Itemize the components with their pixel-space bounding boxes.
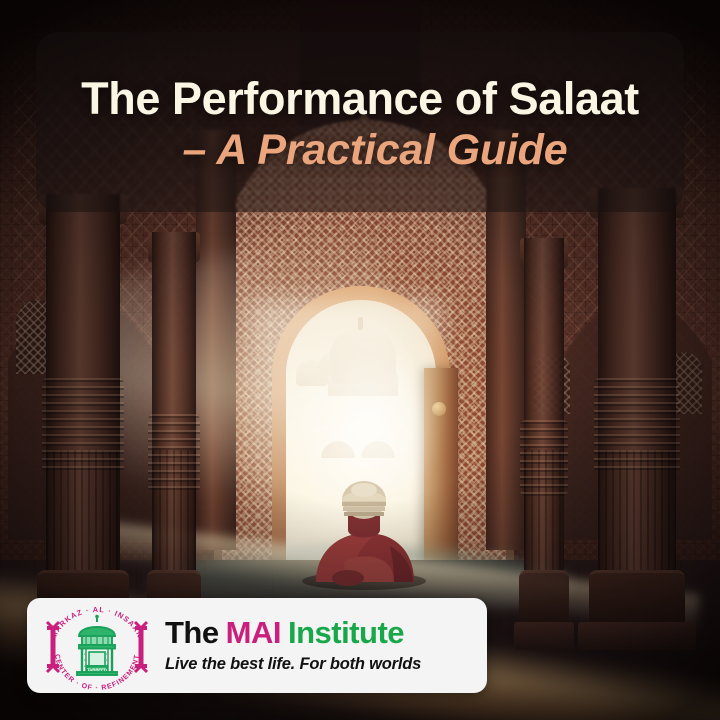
page-title: The Performance of Salaat <box>81 75 639 122</box>
pillar-right-front <box>598 188 676 624</box>
brand-wordmark: TheMAIInstitute <box>165 617 421 648</box>
pillar-base <box>589 570 686 624</box>
brand-wordmark-block: TheMAIInstitute Live the best life. For … <box>165 617 421 674</box>
poster-canvas: The Performance of Salaat – A Practical … <box>0 0 720 720</box>
brand-word-the: The <box>165 615 219 650</box>
pillar-right-back <box>524 238 564 624</box>
pillar-plinth <box>578 622 697 650</box>
brand-logo-card[interactable]: MARKAZ · AL · INSAAN CENTER · OF · REFIN… <box>27 598 487 693</box>
pillar-ring-band <box>42 378 124 474</box>
svg-text:A: A <box>106 651 109 656</box>
pillar-ring-band <box>520 420 568 496</box>
markaz-al-insaan-emblem: MARKAZ · AL · INSAAN CENTER · OF · REFIN… <box>41 602 153 690</box>
seated-praying-figure <box>286 450 446 590</box>
brand-tagline: Live the best life. For both worlds <box>165 655 421 674</box>
pillar-ring-band <box>594 378 680 474</box>
title-overlay-panel: The Performance of Salaat – A Practical … <box>36 32 684 212</box>
pillar-base <box>519 570 569 624</box>
svg-text:A: A <box>106 657 109 662</box>
pillar-ring-band <box>148 414 200 492</box>
pillar-plinth <box>514 622 575 650</box>
emblem-minaret: AAA AAA TARBEED <box>77 614 117 674</box>
svg-text:A: A <box>84 657 87 662</box>
svg-text:A: A <box>84 651 87 656</box>
page-subtitle: – A Practical Guide <box>153 128 568 173</box>
brand-word-mai: MAI <box>226 615 281 650</box>
brand-word-institute: Institute <box>288 615 404 650</box>
pillar-left-front <box>46 194 120 624</box>
pillar-left-back <box>152 232 196 624</box>
